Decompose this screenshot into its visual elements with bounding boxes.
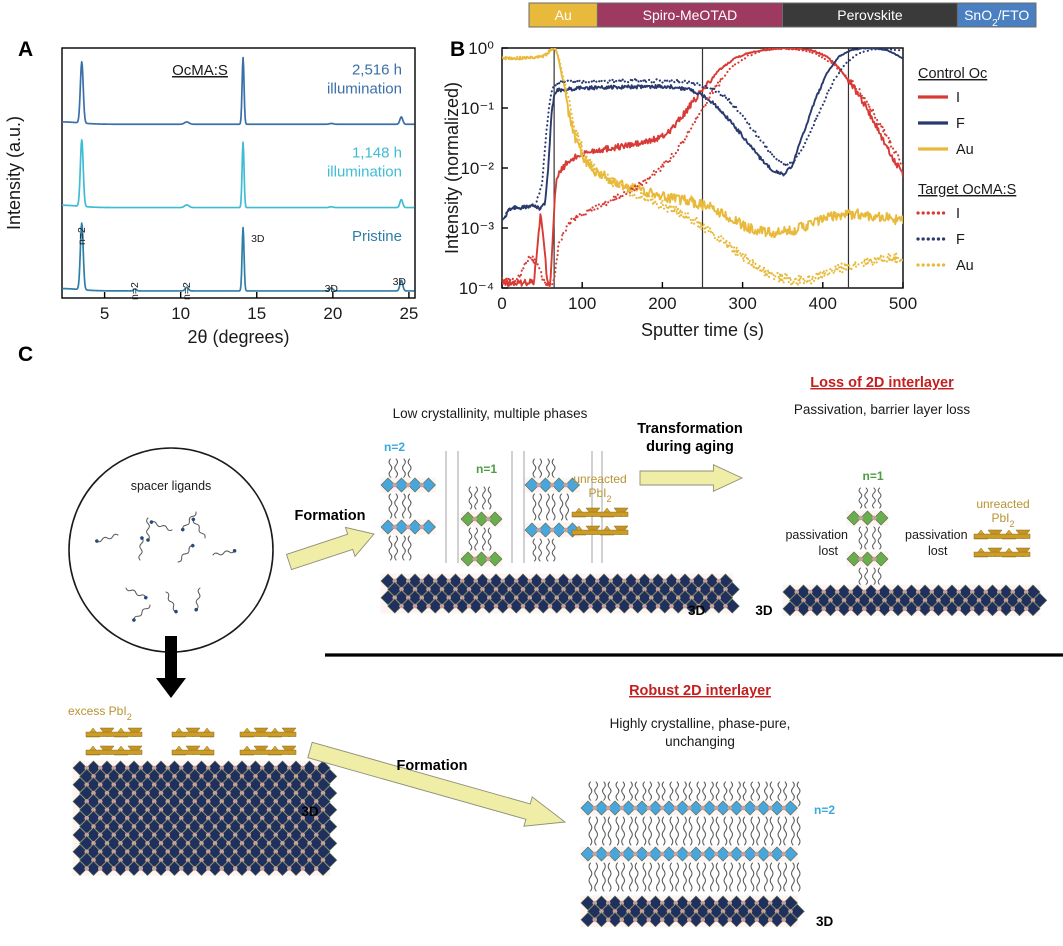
pbi2-base (572, 512, 628, 517)
lattice-a-site (392, 483, 397, 488)
spacer-ligand-chain (757, 817, 760, 845)
lattice-a-site (714, 917, 719, 922)
lattice-row (461, 512, 502, 526)
unreacted-pbi2-slab (86, 728, 142, 737)
lattice-a-site (983, 606, 988, 611)
lattice-a-site (314, 866, 319, 871)
lattice-a-site (419, 483, 424, 488)
n2-label-robust: n=2 (814, 803, 835, 817)
spacer-ligand-chain (670, 817, 673, 845)
pbi2-base (86, 732, 142, 737)
spacer-ligand-chain (738, 817, 741, 845)
spacer-ligand-chain (403, 536, 406, 560)
spacer-ligand-circle-group: spacer ligands (69, 448, 273, 652)
lattice-a-site (507, 604, 512, 609)
spacer-ligand-chain (697, 817, 700, 845)
lattice-a-site (486, 517, 491, 522)
bulk-3d-label-robust: 3D (816, 914, 834, 929)
lattice-a-site (472, 517, 477, 522)
lattice-a-site (673, 806, 678, 811)
panel-b-legend-label: Au (956, 142, 974, 158)
lattice-a-site (660, 852, 665, 857)
lattice-a-site (754, 852, 759, 857)
panel-a-peak-label: 3D (325, 283, 339, 295)
unreacted-pbi2-slab (172, 746, 214, 755)
passivation-lost-right-1: passivation (905, 528, 968, 542)
lattice-a-site (467, 604, 472, 609)
panel-b-letter: B (450, 38, 465, 62)
panel-b-ytick: 10⁻¹ (460, 99, 494, 118)
panel-a-peak-label: n=2 (129, 282, 141, 300)
lattice-a-site (646, 917, 651, 922)
lattice-a-site (152, 866, 157, 871)
lattice-n2-top-a2 (381, 520, 436, 535)
spacer-ligand-chain (403, 494, 406, 518)
lattice-a-site (997, 606, 1002, 611)
spacer-ligand-chain (603, 863, 606, 891)
pbi2-base (974, 534, 1030, 539)
pbi2-base (240, 732, 296, 737)
lattice-n2-top-a (381, 478, 436, 493)
lattice-a-site (889, 606, 894, 611)
ligand-band (533, 494, 568, 520)
lattice-a-site (273, 866, 278, 871)
bulk-3d-label-top: 3D (688, 603, 706, 618)
lattice-a-site (956, 606, 961, 611)
spacer-ligand-chain (797, 863, 800, 891)
lattice-a-site (406, 525, 411, 530)
stack-segment-label: Spiro-MeOTAD (643, 7, 738, 23)
panel-b-ytick: 10⁻⁴ (459, 279, 494, 298)
spacer-ligand-chain (757, 863, 760, 891)
spacer-ligand-chain (622, 817, 625, 845)
spacer-ligand-chain (684, 817, 687, 845)
lattice-a-site (781, 917, 786, 922)
lattice-a-site (821, 606, 826, 611)
lattice-a-site (872, 516, 877, 521)
spacer-ligand-chain (751, 817, 754, 845)
stack-segment-label: Perovskite (837, 7, 903, 23)
lattice-a-site (683, 604, 688, 609)
panel-a-xtick: 5 (100, 304, 109, 323)
spacer-ligand-chain (589, 817, 592, 845)
lattice-a-site (561, 604, 566, 609)
n1-label-loss: n=1 (862, 469, 883, 483)
lattice-a-site (550, 528, 555, 533)
transformation-label-1: Transformation (637, 421, 743, 437)
passivation-lost-left-2: lost (819, 544, 839, 558)
unreacted-pbi2-slab (240, 746, 296, 755)
lattice-a-site (943, 606, 948, 611)
pbi2-base (172, 750, 214, 755)
unreacted-pbi2-slab (86, 746, 142, 755)
spacer-ligand-chain (533, 494, 536, 520)
spacer-ligand-chain (552, 539, 555, 561)
ligand-band (589, 817, 800, 845)
panel-b-legend-label: I (956, 206, 960, 222)
lattice-a-site (700, 806, 705, 811)
lattice-a-site (233, 866, 238, 871)
lattice-a-site (768, 852, 773, 857)
spacer-ligand-chain (865, 527, 868, 549)
panel-a-xtick: 15 (247, 304, 266, 323)
panel-c-letter: C (18, 343, 33, 367)
lattice-a-site (563, 483, 568, 488)
transformation-label-2: during aging (646, 439, 734, 455)
panel-b-ytick: 10⁻³ (460, 219, 494, 238)
lattice-a-site (246, 866, 251, 871)
panel-a-label-2516h: illumination (327, 80, 402, 97)
robust-2d-title: Robust 2D interlayer (629, 683, 771, 699)
lattice-a-site (592, 806, 597, 811)
spacer-ligands-label: spacer ligands (131, 479, 212, 493)
lattice-a-site (723, 604, 728, 609)
lattice-a-site (754, 806, 759, 811)
spacer-ligand-chain (395, 536, 398, 560)
lattice-a-site (179, 866, 184, 871)
spacer-ligand-chain (488, 487, 491, 509)
lattice-a-site (710, 604, 715, 609)
spacer-ligand-chain (589, 863, 592, 891)
spacer-ligand-chain (859, 527, 862, 549)
lattice-a-site (673, 852, 678, 857)
lattice-a-site (138, 866, 143, 871)
spacer-ligand-chain (770, 863, 773, 891)
spacer-ligand-chain (608, 817, 611, 845)
lattice-a-site (192, 866, 197, 871)
lattice-n1-loss-2 (847, 552, 889, 567)
spacer-ligand-chain (878, 527, 881, 549)
lattice-3d-robust (581, 896, 805, 928)
lattice-a-site (970, 606, 975, 611)
lattice-a-site (548, 604, 553, 609)
spacer-ligand-chain (778, 817, 781, 845)
low-crystallinity-caption: Low crystallinity, multiple phases (393, 406, 588, 421)
spacer-ligand-chain (649, 863, 652, 891)
panel-a-peak-label: n=2 (181, 282, 193, 300)
lattice-a-site (741, 852, 746, 857)
spacer-ligand-chain (670, 863, 673, 891)
lattice-a-site (835, 606, 840, 611)
spacer-ligand-chain (408, 494, 411, 518)
panel-a-label-pristine: Pristine (352, 228, 402, 245)
panel-a: A 5101520252θ (degrees)Intensity (a.u.)O… (0, 30, 440, 340)
lattice-a-site (929, 606, 934, 611)
ligand-band (589, 863, 800, 891)
panel-b-plot: AuSpiro-MeOTADPerovskiteSnO2/FTO01002003… (440, 0, 1063, 330)
unreacted-pbi2-label-loss: unreacted (976, 497, 1029, 511)
unreacted-pbi2-slab (974, 548, 1030, 557)
lattice-a-site (642, 604, 647, 609)
spacer-ligand-chain (676, 817, 679, 845)
spacer-ligand-chain (738, 863, 741, 891)
spacer-ligand-chain (703, 863, 706, 891)
lattice-a-site (902, 606, 907, 611)
lattice-a-site (633, 806, 638, 811)
passivation-lost-right-2: lost (928, 544, 948, 558)
lattice-a-site (260, 866, 265, 871)
spacer-ligand-chain (539, 539, 542, 561)
lattice-a-site (700, 852, 705, 857)
spacer-ligand-chain (595, 817, 598, 845)
spacer-ligand-chain (539, 494, 542, 520)
spacer-ligand-chain (684, 863, 687, 891)
spacer-ligand-chain (469, 487, 472, 509)
lattice-row (461, 552, 502, 566)
spacer-ligand-chain (595, 863, 598, 891)
lattice-a-site (111, 866, 116, 871)
spacer-ligand-chain (730, 863, 733, 891)
pbi2-base (172, 732, 214, 737)
spacer-ligand-chain (622, 863, 625, 891)
robust-2d-group: Robust 2D interlayerHighly crystalline, … (581, 683, 836, 929)
lattice-n2-robust-2 (581, 847, 798, 862)
spacer-ligand-chain (630, 863, 633, 891)
lattice-a-site (494, 604, 499, 609)
lattice-a-site (206, 866, 211, 871)
lattice-n1-loss (847, 511, 889, 526)
lattice-a-site (98, 866, 103, 871)
lattice-a-site (794, 606, 799, 611)
lattice-a-site (440, 604, 445, 609)
lattice-a-site (592, 917, 597, 922)
spacer-ligand-chain (616, 863, 619, 891)
lattice-n1-top-2 (461, 552, 503, 567)
pbi2-base (86, 750, 142, 755)
lattice-a-site (399, 604, 404, 609)
spacer-ligand-chain (657, 863, 660, 891)
spacer-ligand-chain (765, 863, 768, 891)
lattice-a-site (858, 557, 863, 562)
spacer-ligand-chain (765, 817, 768, 845)
ligand-head (146, 538, 150, 542)
loss-2d-group: Loss of 2D interlayerPassivation, barrie… (755, 375, 1046, 618)
panel-b-legend-header: Target OcMA:S (918, 182, 1016, 198)
lattice-a-site (646, 806, 651, 811)
lattice-a-site (741, 917, 746, 922)
panel-b-xtick: 500 (889, 294, 917, 313)
unreacted-pbi2-slab (572, 526, 628, 535)
lattice-a-site (848, 606, 853, 611)
spacer-ligand-chain (483, 487, 486, 509)
lattice-a-site (287, 866, 292, 871)
panel-a-xtick: 25 (399, 304, 418, 323)
ligand-band (389, 536, 411, 560)
unreacted-pbi2-slab (240, 728, 296, 737)
lattice-a-site (687, 806, 692, 811)
lattice-3d-loss (783, 585, 1047, 617)
panel-a-peak-label: 3D (393, 276, 407, 288)
spacer-ligand-chain (859, 488, 862, 508)
panel-b-xtick: 300 (728, 294, 756, 313)
lattice-a-site (486, 557, 491, 562)
lattice-a-site (84, 866, 89, 871)
spacer-ligand-chain (533, 539, 536, 561)
spacer-ligand-chain (697, 863, 700, 891)
lattice-n2-top-c (525, 478, 580, 493)
spacer-ligand-chain (797, 817, 800, 845)
spacer-ligand-chain (865, 488, 868, 508)
ligand-band (469, 528, 491, 550)
spacer-ligand-chain (703, 817, 706, 845)
spacer-ligand-chain (792, 817, 795, 845)
panel-c-diagram: spacer ligandsFormationLow crystallinity… (0, 330, 1063, 946)
passivation-lost-left-1: passivation (785, 528, 848, 542)
panel-a-sample-label: OcMA:S (172, 62, 228, 79)
lattice-a-site (602, 604, 607, 609)
panel-b: B AuSpiro-MeOTADPerovskiteSnO2/FTO010020… (440, 0, 1063, 330)
lattice-a-site (615, 604, 620, 609)
formation-label-bottom: Formation (397, 758, 468, 774)
panel-b-legend-label: F (956, 116, 965, 132)
robust-2d-subtitle-2: unchanging (665, 734, 735, 749)
n2-label-top: n=2 (384, 440, 405, 454)
panel-a-xtick: 20 (323, 304, 342, 323)
lattice-a-site (534, 604, 539, 609)
spacer-ligand-chain (657, 817, 660, 845)
ligand-band (389, 494, 411, 518)
lattice-a-site (646, 852, 651, 857)
lattice-a-site (714, 852, 719, 857)
lattice-a-site (480, 604, 485, 609)
lattice-a-site (472, 557, 477, 562)
lattice-a-site (426, 604, 431, 609)
spacer-ligand-chain (552, 494, 555, 520)
spacer-ligand-chain (469, 528, 472, 550)
lattice-a-site (781, 852, 786, 857)
stack-segment-label: Au (555, 7, 572, 23)
lattice-a-site (619, 806, 624, 811)
panel-b-legend-label: Au (956, 258, 974, 274)
lattice-a-site (714, 806, 719, 811)
spacer-ligand-chain (475, 487, 478, 509)
lattice-a-site (808, 606, 813, 611)
spacer-ligand-chain (716, 817, 719, 845)
panel-b-ylabel: Intensity (normalized) (442, 82, 462, 254)
lattice-a-site (300, 866, 305, 871)
lattice-n2-robust-1 (581, 801, 798, 816)
lattice-a-site (633, 852, 638, 857)
spacer-ligand-chain (743, 817, 746, 845)
spacer-ligand-chain (649, 817, 652, 845)
spacer-ligand-chain (603, 817, 606, 845)
ligand-band (533, 539, 555, 561)
spacer-ligand-chain (547, 494, 550, 520)
lattice-a-site (669, 604, 674, 609)
lattice-a-site (660, 917, 665, 922)
lattice-a-site (588, 604, 593, 609)
panel-b-xtick: 100 (568, 294, 596, 313)
loss-2d-subtitle: Passivation, barrier layer loss (794, 402, 971, 417)
robust-2d-subtitle-1: Highly crystalline, phase-pure, (610, 716, 791, 731)
spacer-ligand-chain (689, 863, 692, 891)
spacer-ligand-chain (724, 863, 727, 891)
unreacted-pbi2-slab (572, 508, 628, 517)
lattice-a-site (606, 852, 611, 857)
formation-label-top: Formation (295, 508, 366, 524)
ligand-band (469, 487, 491, 509)
unreacted-pbi2-slab (172, 728, 214, 737)
spacer-ligand-chain (408, 536, 411, 560)
lattice-a-site (629, 604, 634, 609)
lattice-a-site (700, 917, 705, 922)
panel-b-ytick: 10⁰ (468, 39, 494, 58)
panel-b-legend-label: I (956, 90, 960, 106)
lattice-a-site (673, 917, 678, 922)
formation-arrow-top (287, 527, 375, 569)
panel-b-xtick: 400 (809, 294, 837, 313)
spacer-ligand-chain (873, 527, 876, 549)
panel-b-legend-header: Control Oc (918, 66, 987, 82)
low-crystallinity-stack: Low crystallinity, multiple phasesn=2n=1… (381, 406, 740, 618)
formation-arrow-bottom (308, 742, 565, 826)
spacer-ligand-chain (689, 817, 692, 845)
spacer-ligand-chain (635, 863, 638, 891)
spacer-ligand-chain (676, 863, 679, 891)
lattice-a-site (125, 866, 130, 871)
lattice-a-site (406, 483, 411, 488)
lattice-a-site (687, 852, 692, 857)
spacer-ligand-chain (643, 817, 646, 845)
spacer-ligand-chain (873, 488, 876, 508)
lattice-a-site (660, 806, 665, 811)
spacer-ligand-chain (560, 494, 563, 520)
excess-pbi2-label: excess PbI2 (68, 704, 132, 722)
panel-a-xtick: 10 (171, 304, 190, 323)
panel-a-label-1148h: illumination (327, 164, 402, 181)
lattice-a-site (563, 528, 568, 533)
pbi2-base (974, 552, 1030, 557)
lattice-a-site (606, 917, 611, 922)
lattice-a-site (392, 525, 397, 530)
spacer-ligand-chain (566, 494, 569, 520)
spacer-ligand-chain (711, 817, 714, 845)
ligand-band (859, 527, 881, 549)
pbi2-base (240, 750, 296, 755)
loss-2d-title: Loss of 2D interlayer (810, 375, 954, 391)
bulk-3d-label-bottom-left: 3D (301, 804, 319, 819)
lattice-a-site (1024, 606, 1029, 611)
spacer-ligand-chain (662, 817, 665, 845)
panel-a-ylabel: Intensity (a.u.) (4, 116, 24, 230)
transformation-arrow (640, 465, 742, 492)
lattice-a-site (219, 866, 224, 871)
lattice-a-site (633, 917, 638, 922)
lattice-a-site (419, 525, 424, 530)
spacer-ligand-chain (784, 863, 787, 891)
spacer-ligand-chain (389, 536, 392, 560)
lattice-a-site (727, 806, 732, 811)
spacer-ligand-chain (716, 863, 719, 891)
panel-b-ytick: 10⁻² (460, 159, 494, 178)
lattice-a-site (619, 852, 624, 857)
bulk-3d-label-loss: 3D (755, 603, 773, 618)
spacer-ligand-chain (662, 863, 665, 891)
n1-label-top: n=1 (476, 462, 497, 476)
lattice-a-site (656, 604, 661, 609)
spacer-ligand-chain (475, 528, 478, 550)
lattice-3d-top (381, 574, 740, 614)
lattice-a-site (453, 604, 458, 609)
lattice-a-site (768, 917, 773, 922)
lattice-3d-bulk-large (73, 761, 337, 876)
spacer-ligand-chain (616, 817, 619, 845)
spacer-ligand-chain (483, 528, 486, 550)
spacer-ligand-chain (630, 817, 633, 845)
ligand-band (859, 488, 881, 508)
spacer-ligand-chain (878, 488, 881, 508)
lattice-a-site (862, 606, 867, 611)
